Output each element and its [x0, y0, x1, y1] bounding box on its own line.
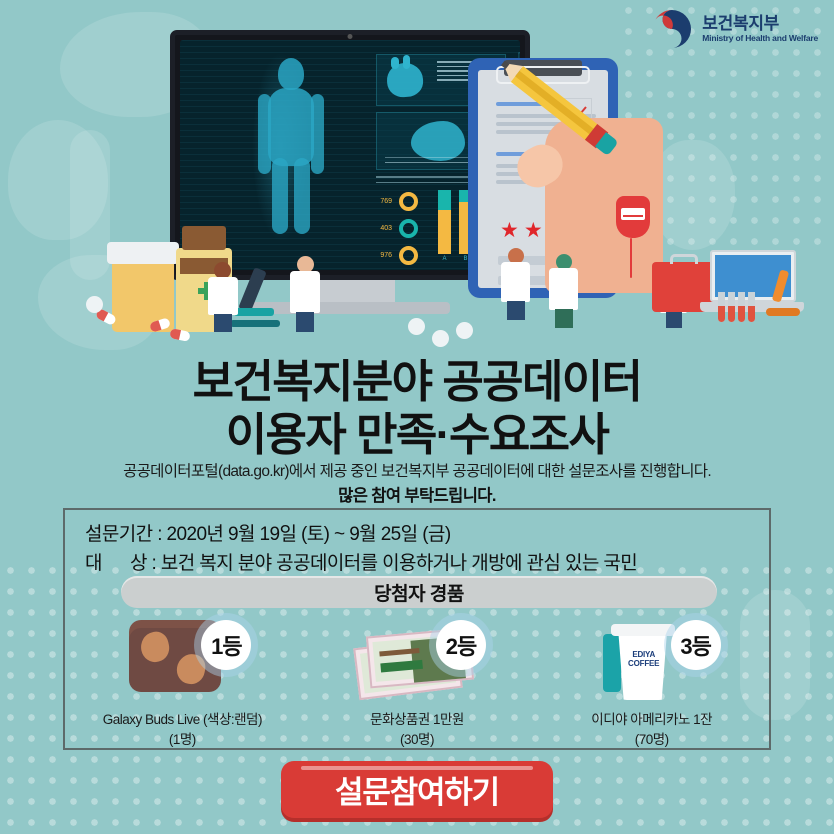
prize-caption-3: 이디야 아메리카노 1잔 (70명) [534, 710, 769, 749]
vbar-label: A [438, 256, 451, 262]
prize-name-3: 이디야 아메리카노 1잔 [534, 710, 769, 730]
prize-list: 1등 Galaxy Buds Live (색상:랜덤) (1명) [65, 614, 769, 750]
survey-target: 대 상 : 보건 복지 분야 공공데이터를 이용하거나 개방에 관심 있는 국민 [85, 548, 637, 575]
tablet-icon [408, 318, 425, 335]
body-leg-left [272, 158, 288, 234]
earbuds-icon: 1등 [107, 614, 257, 706]
prize-rank-badge-2: 2등 [436, 620, 486, 670]
blood-tube [630, 238, 632, 278]
body-head [278, 58, 304, 90]
prize-item-3: EDIYA COFFEE 3등 이디야 아메리카노 1잔 (70명) [534, 614, 769, 750]
title-line-1: 보건복지분야 공공데이터 [193, 356, 642, 407]
person-doctor-2 [500, 248, 532, 320]
donut-row: 403 [376, 219, 418, 238]
heart-vessel-1 [391, 57, 399, 69]
monitor-camera-icon [348, 34, 353, 39]
prize-count-2: (30명) [300, 730, 535, 750]
stomach-icon [411, 121, 465, 161]
cup-brand-label: EDIYA COFFEE [621, 650, 667, 668]
donut-label: 976 [376, 252, 392, 259]
stomach-readout-line-2 [385, 157, 475, 159]
hero-illustration: 95 769 [0, 0, 834, 350]
tablet-icon [432, 330, 449, 347]
person-scientist-1 [206, 262, 240, 332]
title-line-2: 이용자 만족·수요조사 [0, 408, 834, 461]
cup-brand-line-1: EDIYA [621, 650, 667, 659]
body-torso [268, 88, 314, 166]
prize-count-1: (1명) [65, 730, 300, 750]
prize-caption-2: 문화상품권 1만원 (30명) [300, 710, 535, 749]
prize-rank-badge-1: 1등 [201, 620, 251, 670]
star-icon: ★ [524, 220, 543, 241]
tablet-icon [86, 296, 103, 313]
survey-period: 설문기간 : 2020년 9월 19일 (토) ~ 9월 25일 (금) [85, 519, 451, 546]
vertical-bar [438, 190, 451, 254]
person-doctor-1 [288, 256, 322, 332]
tablet-icon [456, 322, 473, 339]
donut-chart-icon [399, 219, 418, 238]
test-tube-rack-icon [718, 292, 755, 322]
prize-banner: 당첨자 경품 [121, 576, 717, 608]
poster-root: 보건복지부 Ministry of Health and Welfare [0, 0, 834, 834]
donut-label: 769 [376, 198, 392, 205]
person-nurse-1 [548, 254, 580, 328]
donut-row: 769 [376, 192, 418, 211]
human-body-silhouette-icon [256, 58, 326, 233]
donut-chart-icon [399, 246, 418, 265]
subtitle-line-2: 많은 참여 부탁드립니다. [0, 482, 834, 506]
prize-rank-badge-3: 3등 [671, 620, 721, 670]
prize-name-1: Galaxy Buds Live (색상:랜덤) [65, 710, 300, 730]
donut-label: 403 [376, 225, 392, 232]
info-box: 설문기간 : 2020년 9월 19일 (토) ~ 9월 25일 (금) 대 상… [63, 508, 771, 750]
survey-participate-button[interactable]: 설문참여하기 [281, 761, 553, 818]
cup-brand-line-2: COFFEE [621, 659, 667, 668]
body-arm-left [258, 94, 271, 174]
body-arm-right [311, 94, 324, 174]
body-leg-right [294, 158, 310, 234]
prize-count-3: (70명) [534, 730, 769, 750]
lab-microscope-icon [766, 270, 800, 320]
donut-chart-group: 769 403 976 [376, 192, 418, 270]
heart-vessel-2 [403, 55, 410, 69]
subtitle-line-1: 공공데이터포털(data.go.kr)에서 제공 중인 보건복지부 공공데이터에… [0, 459, 834, 481]
page-title: 보건복지분야 공공데이터 이용자 만족·수요조사 [0, 355, 834, 461]
star-icon: ★ [500, 220, 519, 241]
prize-caption-1: Galaxy Buds Live (색상:랜덤) (1명) [65, 710, 300, 749]
gift-voucher-icon: 2등 [342, 614, 492, 706]
coffee-cup-icon: EDIYA COFFEE 3등 [577, 614, 727, 706]
donut-chart-icon [399, 192, 418, 211]
prize-item-1: 1등 Galaxy Buds Live (색상:랜덤) (1명) [65, 614, 300, 750]
blood-bag-icon [616, 196, 650, 238]
prize-item-2: 2등 문화상품권 1만원 (30명) [300, 614, 535, 750]
donut-row: 976 [376, 246, 418, 265]
prize-name-2: 문화상품권 1만원 [300, 710, 535, 730]
